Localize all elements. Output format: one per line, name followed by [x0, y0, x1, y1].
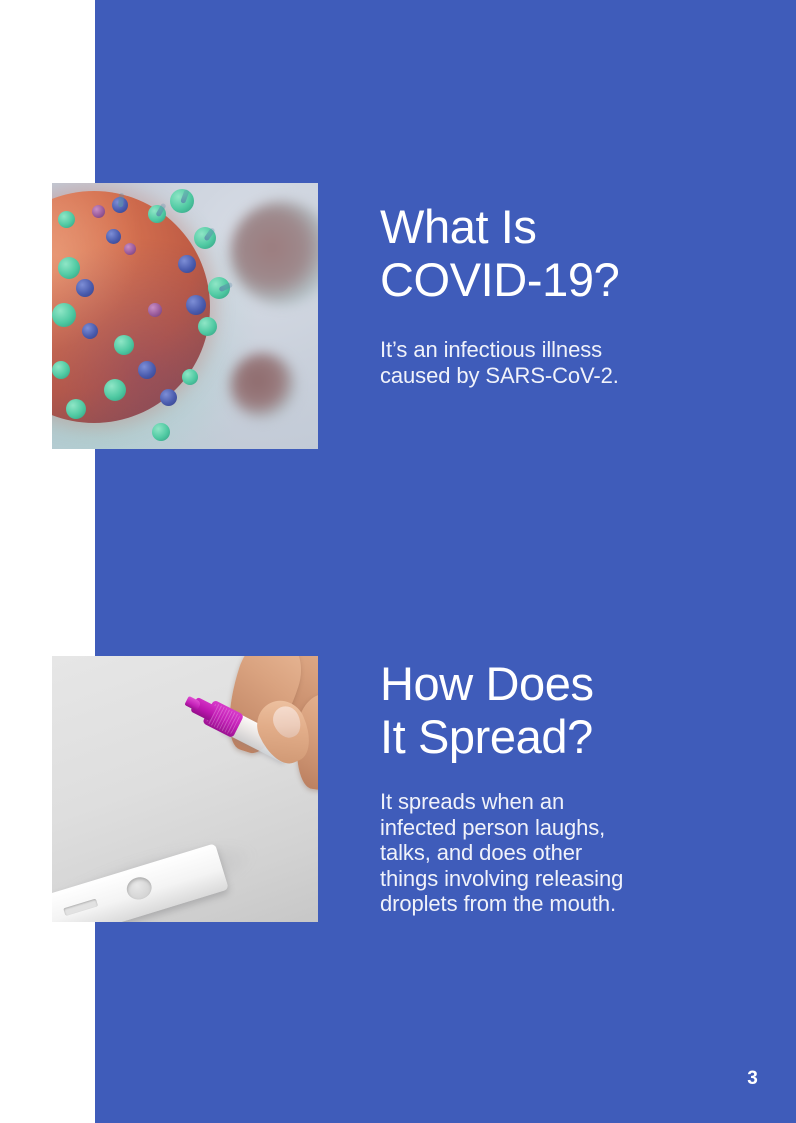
spike-protein-icon — [178, 255, 196, 273]
coronavirus-particle-photo — [52, 183, 318, 449]
spike-protein-icon — [112, 197, 128, 213]
spike-protein-icon — [152, 423, 170, 441]
slide-page: What Is COVID-19? It’s an infectious ill… — [0, 0, 796, 1123]
spike-protein-icon — [182, 369, 198, 385]
blue-background-panel — [95, 0, 796, 1123]
spike-protein-icon — [160, 389, 177, 406]
rapid-antigen-test-photo — [52, 656, 318, 922]
spike-stem — [118, 192, 124, 206]
spike-protein-icon — [208, 277, 230, 299]
sample-well — [124, 874, 154, 902]
spike-protein-icon — [198, 317, 217, 336]
spike-stem — [203, 227, 215, 241]
spike-protein-icon — [58, 211, 75, 228]
spike-protein-icon — [106, 229, 121, 244]
spike-protein-icon — [148, 205, 166, 223]
spike-protein-icon — [104, 379, 126, 401]
spike-protein-icon — [186, 295, 206, 315]
spike-protein-icon — [52, 303, 76, 327]
section-how-does-it-spread: How Does It Spread? It spreads when an i… — [380, 657, 680, 917]
section-what-is-covid-19: What Is COVID-19? It’s an infectious ill… — [380, 200, 680, 388]
spike-stem — [180, 189, 189, 204]
spike-stem — [155, 202, 166, 217]
result-window — [63, 898, 98, 916]
section-body-text: It’s an infectious illness caused by SAR… — [380, 337, 680, 388]
section-headline: How Does It Spread? — [380, 657, 680, 763]
spike-protein-icon — [114, 335, 134, 355]
spike-protein-icon — [138, 361, 156, 379]
spike-protein-icon — [82, 323, 98, 339]
spike-protein-icon — [76, 279, 94, 297]
spike-protein-icon — [52, 361, 70, 379]
spike-protein-icon — [124, 243, 136, 255]
spike-protein-icon — [58, 257, 80, 279]
page-number: 3 — [747, 1068, 758, 1090]
spike-protein-icon — [194, 227, 216, 249]
spike-protein-icon — [66, 399, 86, 419]
spike-protein-icon — [170, 189, 194, 213]
section-body-text: It spreads when an infected person laugh… — [380, 789, 680, 917]
section-headline: What Is COVID-19? — [380, 200, 680, 306]
spike-protein-icon — [92, 205, 105, 218]
spike-protein-icon — [148, 303, 162, 317]
